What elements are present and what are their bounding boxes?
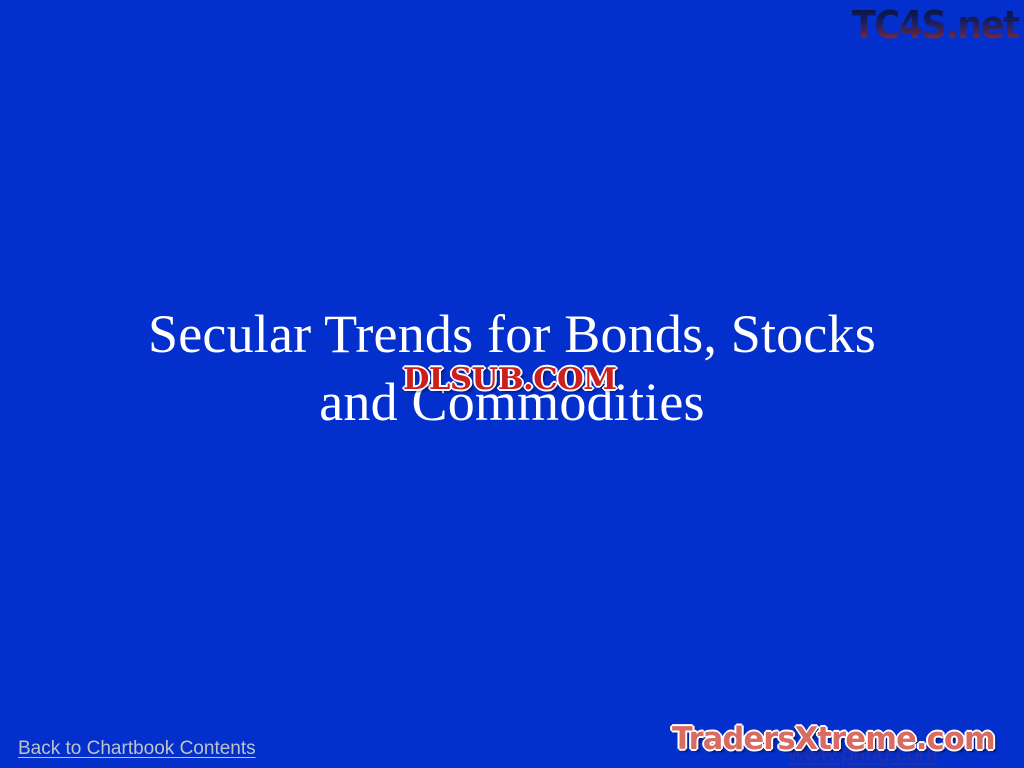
slide-title-line-2: and Commodities (0, 368, 1024, 436)
slide-title-line-1: Secular Trends for Bonds, Stocks (0, 300, 1024, 368)
presentation-slide: TC4S.net Secular Trends for Bonds, Stock… (0, 0, 1024, 768)
pring-source-link[interactable]: www.pring.com (788, 740, 937, 766)
tc4s-logo-text: TC4S.net (852, 5, 1024, 45)
tc4s-logo: TC4S.net (824, 2, 1024, 48)
back-to-chartbook-contents-link[interactable]: Back to Chartbook Contents (18, 738, 256, 760)
slide-title: Secular Trends for Bonds, Stocks and Com… (0, 300, 1024, 436)
